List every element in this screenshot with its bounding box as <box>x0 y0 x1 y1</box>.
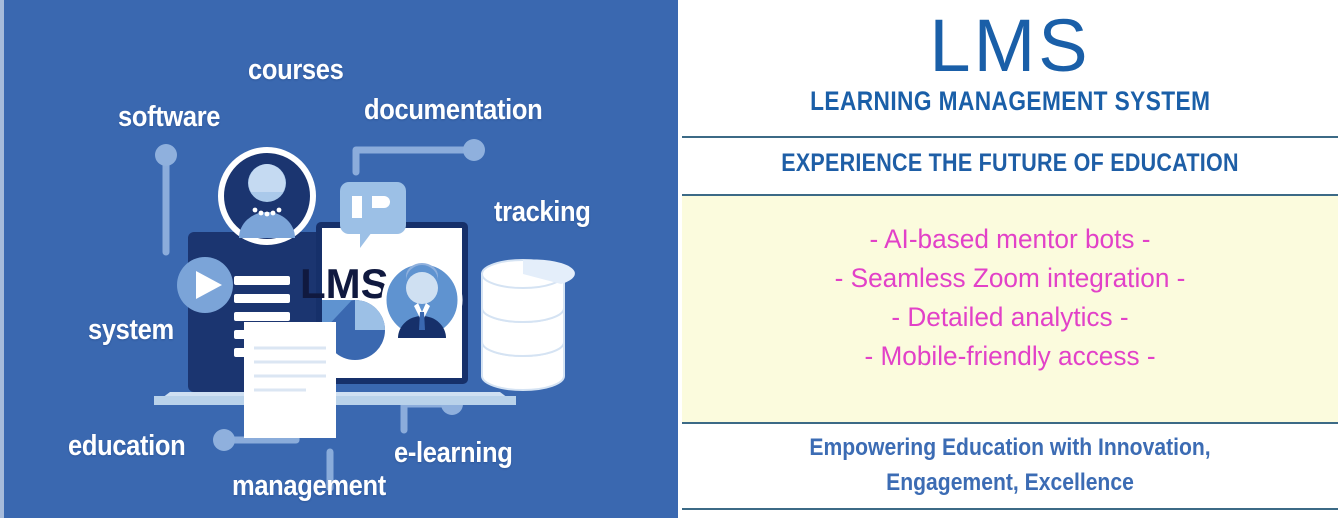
content-panel: LMS LEARNING MANAGEMENT SYSTEM EXPERIENC… <box>678 0 1342 518</box>
play-button-icon <box>177 257 233 313</box>
avatar-female-icon <box>221 150 313 242</box>
footer-line: Engagement, Excellence <box>718 465 1302 500</box>
avatar-male-icon <box>384 262 460 338</box>
keyword-software: software <box>118 101 220 134</box>
keyword-management: management <box>232 470 386 503</box>
keyword-education: education <box>68 430 185 463</box>
keyword-system: system <box>88 314 174 347</box>
tagline: EXPERIENCE THE FUTURE OF EDUCATION <box>724 148 1295 178</box>
illustration-panel: LMS <box>0 0 678 518</box>
title-block: LMS LEARNING MANAGEMENT SYSTEM <box>678 6 1342 116</box>
keyword-documentation: documentation <box>364 94 542 127</box>
document-icon <box>244 322 336 438</box>
page-title: LMS <box>678 6 1342 86</box>
node-dot <box>155 144 177 166</box>
node-dot <box>463 139 485 161</box>
feature-item: - Detailed analytics - <box>688 298 1332 337</box>
footer-tagline: Empowering Education with Innovation, En… <box>718 430 1302 500</box>
feature-list: - AI-based mentor bots - - Seamless Zoom… <box>678 220 1342 376</box>
lms-banner: LMS <box>0 0 1342 518</box>
screen-lms-label: LMS <box>300 260 389 307</box>
divider-top <box>682 136 1338 138</box>
feature-item: - Mobile-friendly access - <box>688 337 1332 376</box>
divider-bottom <box>682 508 1338 510</box>
keyword-courses: courses <box>248 54 343 87</box>
keyword-tracking: tracking <box>494 196 590 229</box>
feature-item: - Seamless Zoom integration - <box>688 259 1332 298</box>
divider-mid <box>682 194 1338 196</box>
divider-cream-bottom <box>682 422 1338 424</box>
keyword-e-learning: e-learning <box>394 437 512 470</box>
database-stack-icon <box>482 259 575 390</box>
page-subtitle: LEARNING MANAGEMENT SYSTEM <box>810 86 1210 116</box>
feature-item: - AI-based mentor bots - <box>688 220 1332 259</box>
footer-line: Empowering Education with Innovation, <box>718 430 1302 465</box>
node-dot <box>213 429 235 451</box>
